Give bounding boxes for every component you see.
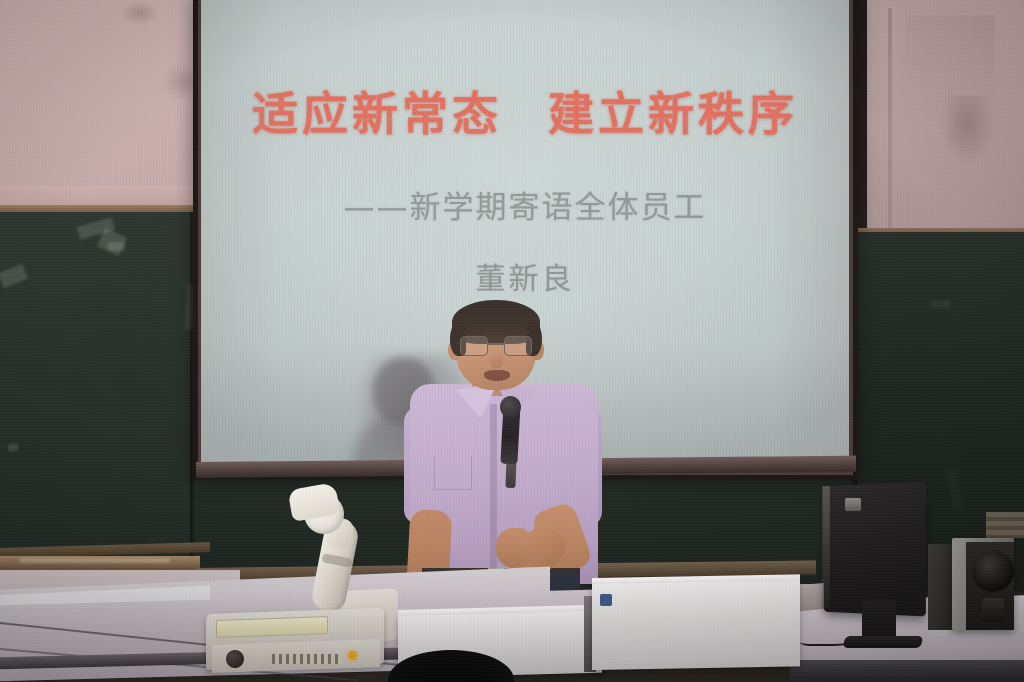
chalk-tray-highlight [20, 558, 170, 563]
speaker-driver-cone [972, 550, 1014, 592]
wall-vertical-seam [888, 8, 892, 230]
wall-shading-right [905, 15, 995, 135]
monitor[interactable] [824, 482, 926, 617]
side-desk-edge [790, 660, 1024, 682]
eyebrow-left [462, 330, 486, 334]
monitor-bezel-edge [822, 486, 830, 608]
hand-holding-microphone [496, 528, 534, 568]
microphone-head [500, 396, 521, 418]
visualizer-button-row[interactable] [272, 654, 342, 664]
monitor-stand-base [843, 636, 924, 648]
eyeglasses-lens-right [504, 336, 532, 356]
eyeglasses-bridge [488, 343, 504, 345]
chalk-smudge [930, 300, 950, 308]
lecture-hall-scene: 适应新常态建立新秩序 ——新学期寄语全体员工 董新良 [0, 0, 1024, 682]
mouth [484, 370, 510, 381]
wall-stain-upper-left [120, 0, 160, 26]
speaker-bass-port [982, 598, 1004, 622]
visualizer-power-led [348, 651, 357, 660]
nose [490, 352, 503, 368]
equipment-box-badge [600, 594, 612, 606]
eyebrow-right [506, 330, 530, 334]
chalk-smudge [108, 242, 125, 251]
eyeglasses-lens-left [460, 336, 488, 356]
books-stack [986, 512, 1024, 538]
shirt-pocket [434, 456, 472, 490]
chalkboard-left [0, 212, 196, 564]
visualizer-knob[interactable] [226, 650, 244, 668]
chalk-smudge [8, 444, 18, 451]
equipment-box-right [592, 580, 800, 670]
monitor-brand-label [845, 498, 861, 511]
